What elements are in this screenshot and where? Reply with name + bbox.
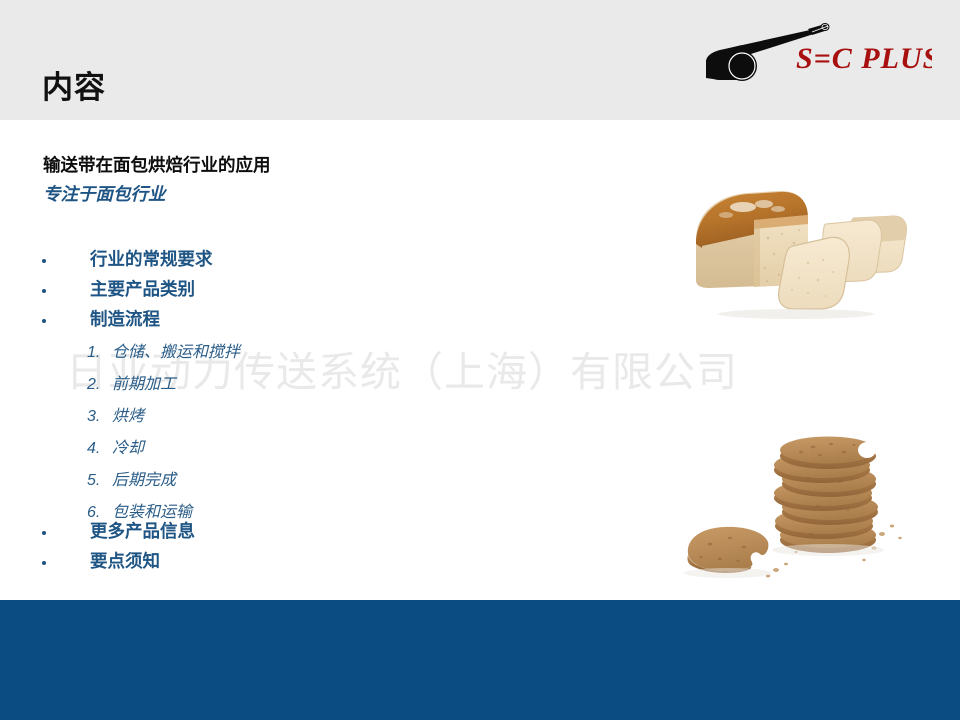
numbered-item-index: 5. [87,470,100,492]
content-subheading: 专注于面包行业 [43,186,166,204]
bullet-label: 要点须知 [90,550,160,572]
numbered-item-label: 后期完成 [112,470,176,492]
bullet-dot-icon [42,531,46,535]
numbered-item-index: 3. [87,406,100,428]
logo-brand-text: S=C PLUS [796,42,932,75]
presentation-slide: 内容 S=C PLUS 日亚动力传送系统（上海）有限公司 [0,0,960,720]
numbered-item-label: 冷却 [112,438,144,460]
company-logo[interactable]: S=C PLUS [692,18,932,92]
numbered-item-label: 烘烤 [112,406,144,428]
bullet-dot-icon [42,289,46,293]
bullet-label: 制造流程 [90,308,160,330]
bullet-dot-icon [42,319,46,323]
slide-footer-band [0,600,960,720]
numbered-item-index: 1. [87,342,100,364]
numbered-item-index: 2. [87,374,100,396]
numbered-item-index: 4. [87,438,100,460]
numbered-item-label: 仓储、搬运和搅拌 [112,342,240,364]
content-heading: 输送带在面包烘焙行业的应用 [43,157,271,175]
bullet-label: 主要产品类别 [90,278,195,300]
page-title: 内容 [42,72,106,103]
slide-content: 输送带在面包烘焙行业的应用 专注于面包行业 行业的常规要求 主要产品类别 制造流… [0,120,960,600]
numbered-item-label: 前期加工 [112,374,176,396]
bullet-dot-icon [42,561,46,565]
bullet-dot-icon [42,259,46,263]
bullet-label: 行业的常规要求 [90,248,213,270]
bullet-label: 更多产品信息 [90,520,195,542]
